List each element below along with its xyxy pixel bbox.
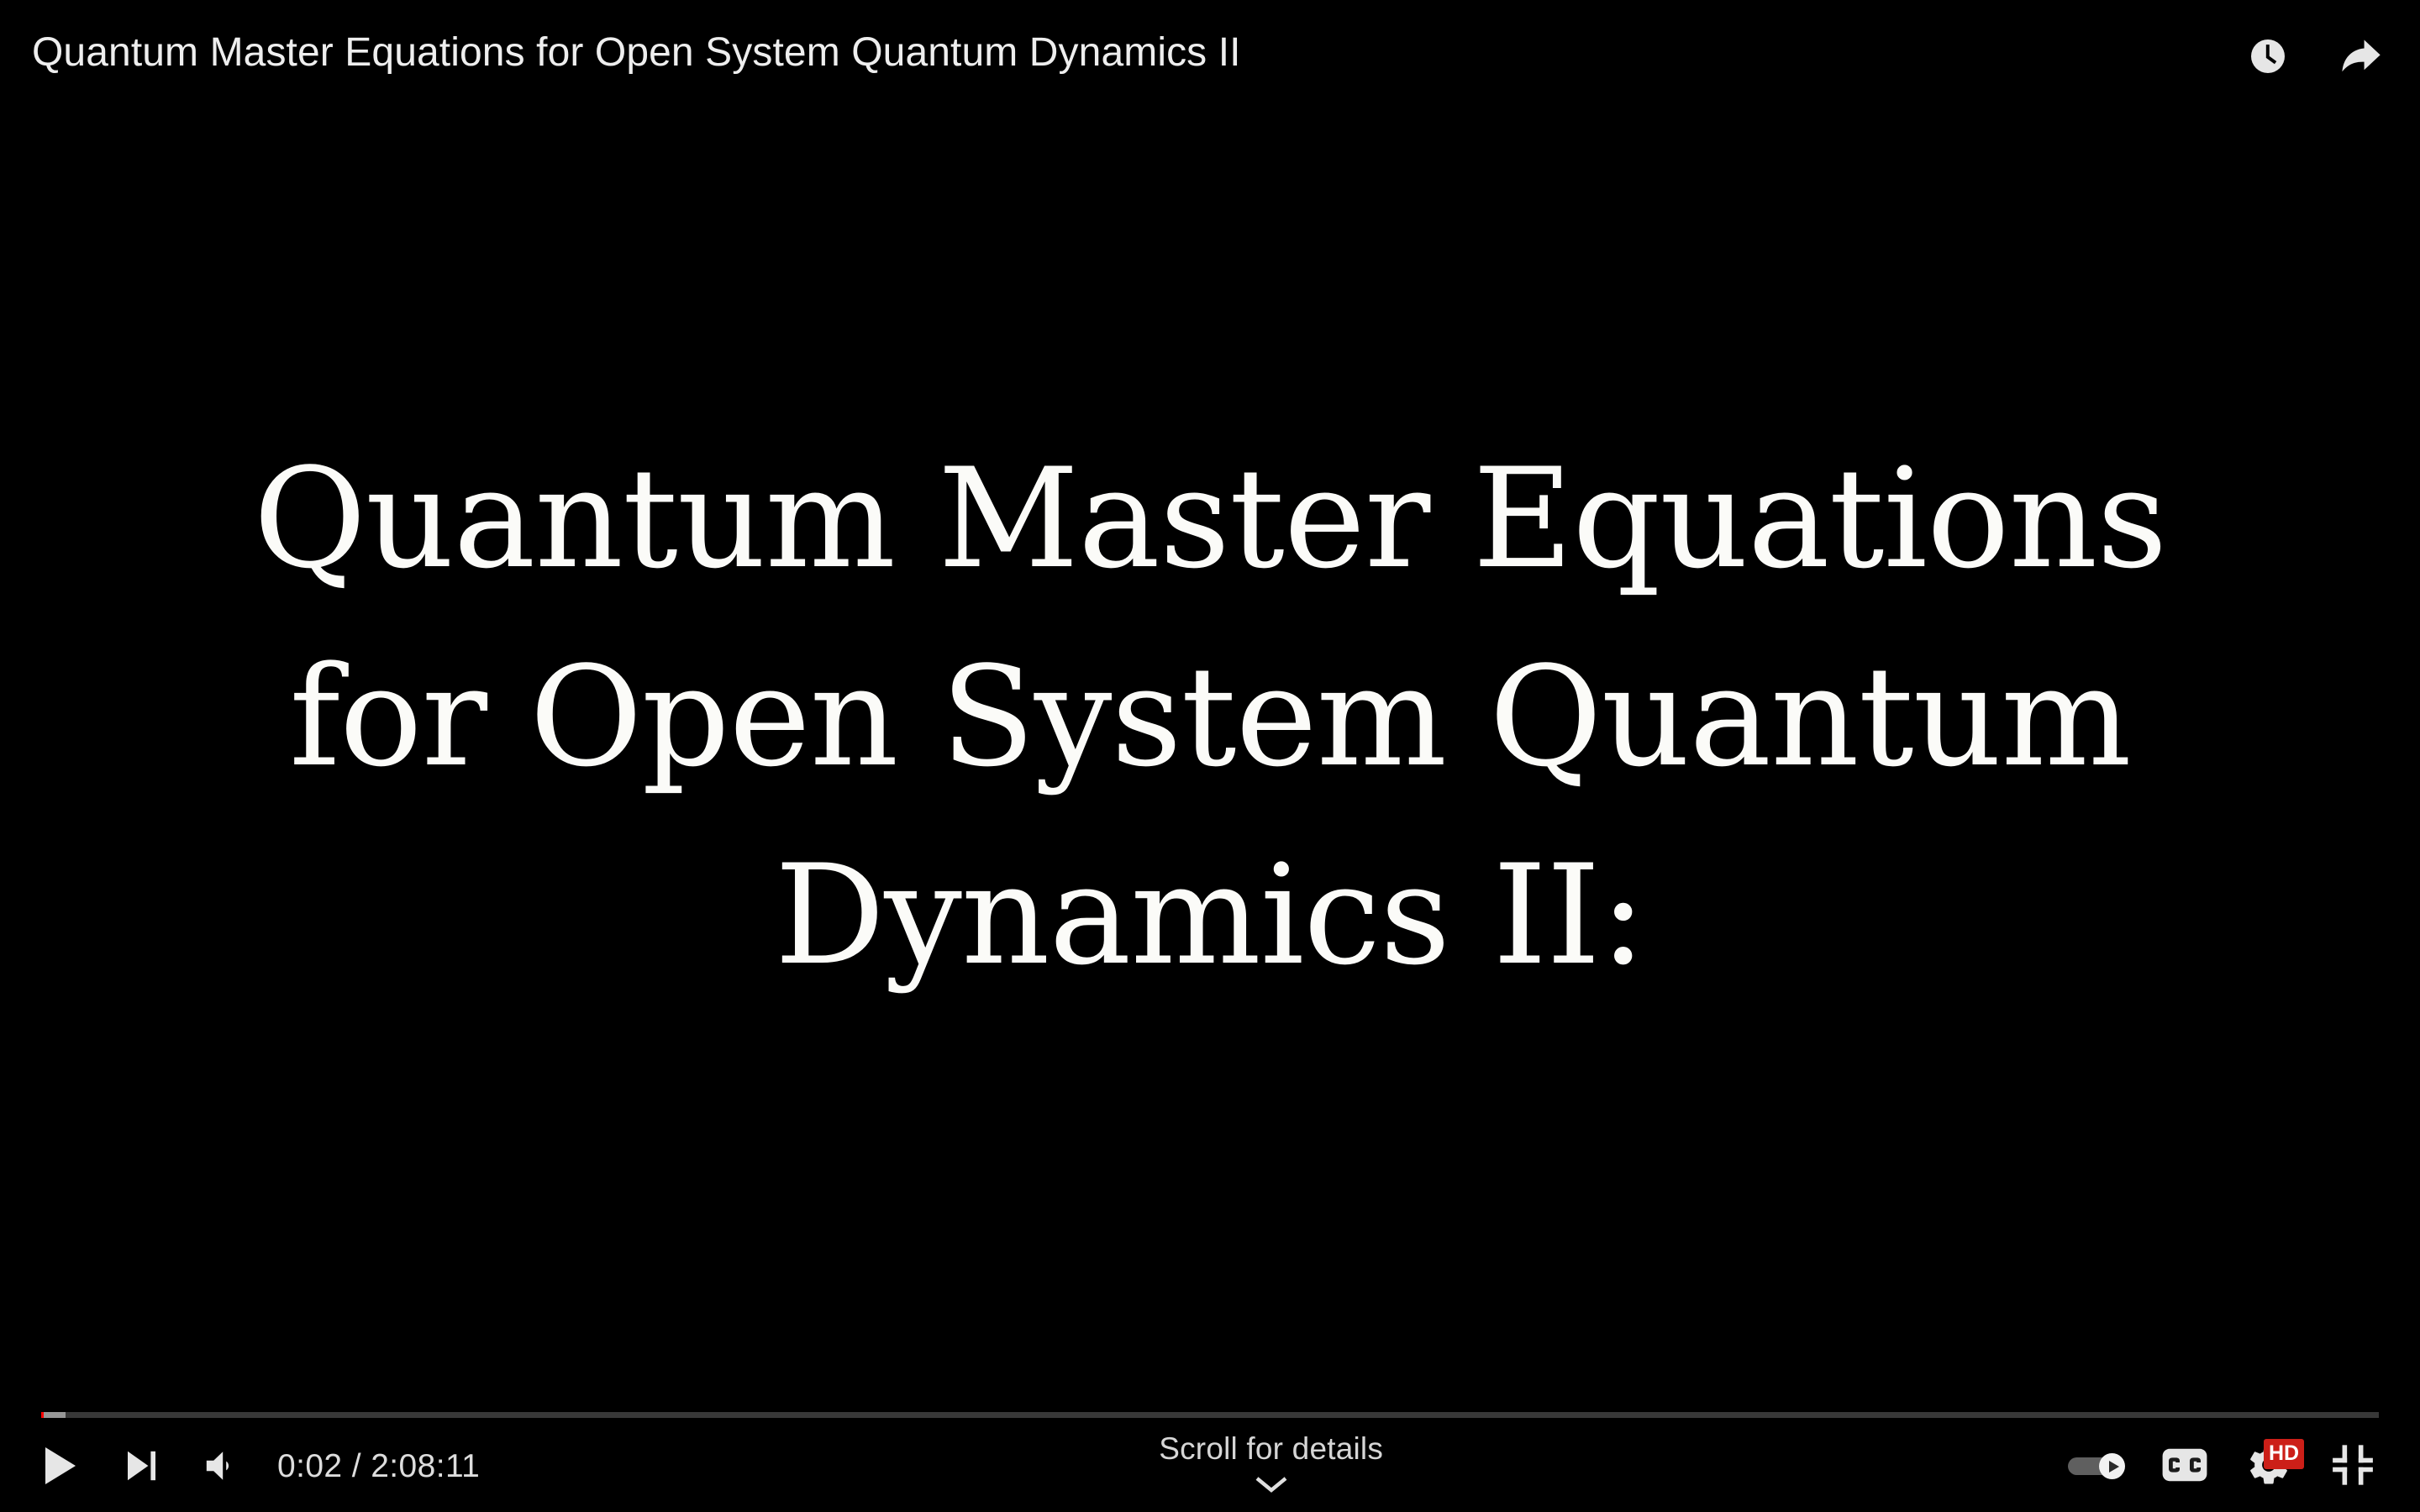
settings-button[interactable]: HD <box>2227 1425 2311 1506</box>
right-controls: HD <box>2050 1425 2420 1506</box>
player-control-bar: 0:02 / 2:08:11 Scroll for details <box>0 1294 2420 1512</box>
time-display: 0:02 / 2:08:11 <box>262 1450 492 1483</box>
autoplay-toggle-button[interactable] <box>2050 1425 2143 1506</box>
slide-line-2: for Open System Quantum <box>0 618 2420 816</box>
chevron-down-icon <box>1254 1474 1289 1494</box>
left-controls: 0:02 / 2:08:11 <box>0 1425 492 1506</box>
play-icon <box>2109 1461 2119 1473</box>
title-bar: Quantum Master Equations for Open System… <box>0 0 2420 126</box>
toggle-knob <box>2099 1453 2125 1479</box>
clock-icon <box>2247 35 2289 77</box>
watch-later-button[interactable] <box>2242 30 2294 82</box>
slide-line-3: Dynamics II: <box>0 816 2420 1015</box>
autoplay-toggle-icon <box>2068 1453 2125 1478</box>
progress-played <box>41 1412 44 1418</box>
slide-line-1: Quantum Master Equations <box>0 420 2420 618</box>
next-video-icon <box>121 1446 161 1486</box>
share-arrow-icon <box>2338 35 2383 77</box>
volume-button[interactable] <box>181 1425 262 1506</box>
play-button[interactable] <box>20 1425 101 1506</box>
top-action-buttons <box>2242 30 2386 82</box>
quality-hd-badge: HD <box>2264 1439 2304 1469</box>
page-title: Quantum Master Equations for Open System… <box>32 29 2242 77</box>
controls-row: 0:02 / 2:08:11 Scroll for details <box>0 1420 2420 1512</box>
progress-track[interactable] <box>41 1412 2379 1418</box>
share-button[interactable] <box>2334 30 2386 82</box>
next-video-button[interactable] <box>101 1425 181 1506</box>
play-icon <box>42 1445 79 1487</box>
exit-fullscreen-icon <box>2330 1442 2375 1490</box>
youtube-video-player[interactable]: Quantum Master Equations for Open System… <box>0 0 2420 1512</box>
progress-bar[interactable] <box>41 1412 2379 1418</box>
progress-loaded <box>41 1412 66 1418</box>
closed-captions-icon <box>2161 1446 2208 1486</box>
scroll-for-details[interactable]: Scroll for details <box>492 1432 2050 1494</box>
volume-low-icon <box>201 1446 243 1486</box>
scroll-hint-label: Scroll for details <box>1159 1432 1383 1466</box>
video-surface[interactable]: Quantum Master Equations for Open System… <box>0 0 2420 1512</box>
slide-title-text: Quantum Master Equations for Open System… <box>0 420 2420 1015</box>
exit-fullscreen-button[interactable] <box>2311 1425 2395 1506</box>
closed-captions-button[interactable] <box>2143 1425 2227 1506</box>
